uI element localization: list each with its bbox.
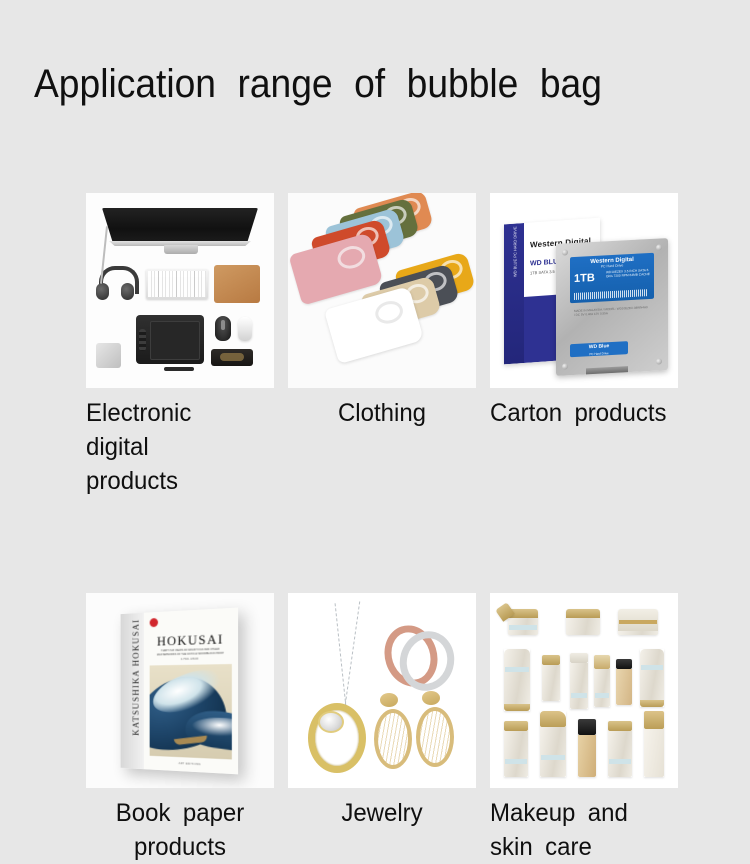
tube-body — [640, 649, 664, 700]
book-front-cover: HOKUSAI THIRTY-SIX VIEWS OF MOUNT FUJI A… — [144, 608, 238, 775]
wave-boat — [174, 736, 208, 746]
hdd-screw — [656, 358, 662, 364]
earring-right — [416, 691, 446, 761]
gold-band — [619, 620, 657, 624]
page-title: Application range of bubble bag — [34, 58, 602, 110]
tshirt-white — [324, 286, 424, 364]
earring-left — [374, 693, 404, 763]
earring-stud — [422, 691, 440, 705]
tshirt-neckline — [335, 243, 368, 272]
image-electronic-digital-products[interactable] — [86, 193, 274, 388]
bottle-body — [542, 665, 560, 701]
book-subtitle: THIRTY-SIX VIEWS OF MOUNT FUJI AND OTHER… — [151, 647, 229, 656]
bottle-body — [570, 663, 588, 709]
label-band — [609, 759, 631, 764]
caption-line-1: Jewelry — [341, 799, 422, 827]
hdd-foot-brand: WD Blue — [589, 343, 610, 350]
monitor-stand — [164, 245, 198, 254]
grid-row-1: Electronic digital products Clothing — [86, 193, 686, 498]
hdd-sata-connector — [586, 366, 628, 374]
jar-body — [618, 631, 658, 635]
mouse-dark-icon — [215, 316, 231, 341]
caption-book-paper-products: Book paper products — [90, 796, 270, 864]
category-cell-jewelry[interactable]: Jewelry — [288, 593, 476, 830]
bottle-body — [540, 727, 566, 777]
caption-jewelry: Jewelry — [292, 796, 472, 830]
bottle-body — [578, 735, 596, 777]
category-cell-makeup-and-skin-care[interactable]: Makeup and skin care — [490, 593, 678, 864]
wave-secondary — [184, 707, 232, 753]
skincare-tube-1 — [504, 649, 530, 711]
bottle-cap — [504, 721, 528, 731]
caption-line-1: Carton products — [490, 399, 667, 427]
bottle-cap — [594, 655, 610, 669]
hdd-barcode — [574, 289, 648, 300]
hdd-screw — [656, 244, 662, 250]
caption-line-2: products — [90, 830, 270, 864]
label-band — [541, 755, 565, 760]
stylus-icon — [164, 367, 194, 371]
bottle-body — [644, 729, 664, 777]
image-makeup-and-skin-care[interactable] — [490, 593, 678, 788]
bottle-cap — [570, 653, 588, 663]
necklace-chain-left — [335, 603, 347, 707]
caption-makeup-and-skin-care: Makeup and skin care — [490, 796, 670, 864]
label-band — [509, 625, 537, 630]
caption-line-1: Clothing — [338, 399, 426, 427]
red-dot-icon — [150, 618, 158, 627]
lotion-bottle-1 — [504, 721, 528, 777]
drawing-tablet-icon — [136, 315, 204, 364]
dropper-bottle — [594, 655, 610, 707]
caption-line-1: Makeup and — [490, 799, 628, 827]
necklace-chain-right — [345, 601, 360, 704]
image-jewelry[interactable] — [288, 593, 476, 788]
caption-carton-products: Carton products — [490, 396, 670, 430]
category-cell-book-paper-products[interactable]: KATSUSHIKA HOKUSAI HOKUSAI THIRTY-SIX VI… — [86, 593, 274, 864]
keyboard-keys — [148, 271, 206, 297]
product-category-grid: Electronic digital products Clothing — [86, 193, 686, 864]
headphone-cup-right — [121, 283, 134, 300]
bottle-cap — [644, 711, 664, 729]
lotion-bottle-2 — [608, 721, 632, 777]
earring-loop — [374, 709, 412, 769]
wave-large-crest — [150, 669, 232, 756]
jar-body — [508, 618, 538, 635]
keyboard-icon — [146, 269, 208, 299]
label-band — [595, 693, 609, 698]
bottle-cap — [608, 721, 632, 731]
book-years: 1760-1849 — [144, 656, 238, 662]
jar-body — [566, 618, 600, 635]
hdd-screw — [562, 363, 568, 369]
great-wave-artwork — [150, 664, 232, 759]
bottle-body — [616, 669, 632, 705]
tube-body — [504, 649, 530, 704]
tshirt-neckline — [373, 298, 406, 327]
pencil-case-icon — [211, 349, 253, 366]
external-drive-icon — [96, 343, 121, 368]
hdd-foot-sub: PC Hard Drive — [570, 349, 628, 359]
grid-row-2: KATSUSHIKA HOKUSAI HOKUSAI THIRTY-SIX VI… — [86, 593, 686, 864]
foundation-bottle-2 — [578, 719, 596, 777]
serum-bottle-1 — [542, 655, 560, 701]
caption-clothing: Clothing — [292, 396, 472, 430]
jar-lid — [566, 609, 600, 618]
mousepad-icon — [214, 265, 260, 303]
serum-bottle-2 — [570, 653, 588, 709]
category-cell-clothing[interactable]: Clothing — [288, 193, 476, 430]
necklace-pendant-gem — [318, 711, 344, 733]
category-cell-carton-products[interactable]: WD BLUE PC HARD DRIVE Western Digital WD… — [490, 193, 678, 430]
cream-jar-2 — [566, 609, 600, 635]
cream-jar-3 — [618, 609, 658, 635]
tablet-active-area — [150, 321, 200, 360]
label-band — [571, 693, 587, 698]
tube-cap — [640, 700, 664, 707]
wave-foam — [192, 717, 232, 737]
caption-line-1: Electronic digital — [86, 399, 191, 461]
wd-box-spine: WD BLUE PC HARD DRIVE — [504, 223, 524, 364]
hdd-label-meta: WD10EZEX 3.5 INCH SATA 6 Gb/s 7200 RPM 6… — [606, 268, 651, 279]
mist-bottle — [644, 711, 664, 777]
headphone-cup-left — [96, 283, 109, 300]
hdd-body-text: MADE IN MALAYSIA / MODEL: WD10EZEX-08WN4… — [574, 305, 648, 317]
mouse-white-icon — [238, 317, 252, 341]
hdd-screw — [562, 249, 568, 255]
monitor-icon — [102, 208, 258, 250]
hdd-label: Western Digital PC Hard Drive 1TB WD10EZ… — [570, 253, 654, 303]
image-book-paper-products[interactable]: KATSUSHIKA HOKUSAI HOKUSAI THIRTY-SIX VI… — [86, 593, 274, 788]
wave-foam-crest — [150, 664, 226, 719]
earring-stud — [380, 693, 398, 707]
label-band — [505, 759, 527, 764]
tablet-buttons — [139, 329, 146, 351]
bottle-body — [594, 669, 610, 707]
image-clothing[interactable] — [288, 193, 476, 388]
bottle-body — [608, 731, 632, 777]
skincare-tube-2 — [640, 649, 664, 707]
image-carton-products[interactable]: WD BLUE PC HARD DRIVE Western Digital WD… — [490, 193, 678, 388]
tube-cap — [504, 704, 530, 711]
book-spine-text: KATSUSHIKA HOKUSAI — [131, 621, 140, 736]
category-cell-electronic-digital-products[interactable]: Electronic digital products — [86, 193, 274, 498]
bottle-cap-black — [616, 659, 632, 669]
hdd-capacity: 1TB — [574, 272, 595, 285]
label-band — [641, 665, 663, 670]
bottle-body — [504, 731, 528, 777]
caption-line-2: products — [86, 464, 266, 498]
book-title: HOKUSAI — [144, 631, 238, 650]
mount-fuji — [201, 717, 227, 732]
hokusai-book: KATSUSHIKA HOKUSAI HOKUSAI THIRTY-SIX VI… — [121, 608, 238, 775]
book-spine: KATSUSHIKA HOKUSAI — [121, 613, 144, 769]
hard-drive: Western Digital PC Hard Drive 1TB WD10EZ… — [556, 238, 668, 376]
caption-line-2: skin care — [490, 830, 670, 864]
bottle-cap-black — [578, 719, 596, 735]
monitor-screen — [102, 208, 258, 243]
wd-box-spine-text: WD BLUE PC HARD DRIVE — [513, 231, 518, 277]
caption-line-1: Book paper — [116, 799, 245, 827]
bottle-cap — [542, 655, 560, 665]
foundation-bottle-1 — [616, 659, 632, 705]
earring-loop — [416, 707, 454, 767]
hdd-foot-badge: WD Blue PC Hard Drive — [570, 341, 628, 357]
label-band — [505, 667, 529, 672]
caption-electronic-digital-products: Electronic digital products — [86, 396, 266, 498]
pump-bottle — [540, 711, 566, 777]
pump-head — [540, 711, 566, 727]
book-publisher: ART EDITIONS — [144, 760, 238, 768]
